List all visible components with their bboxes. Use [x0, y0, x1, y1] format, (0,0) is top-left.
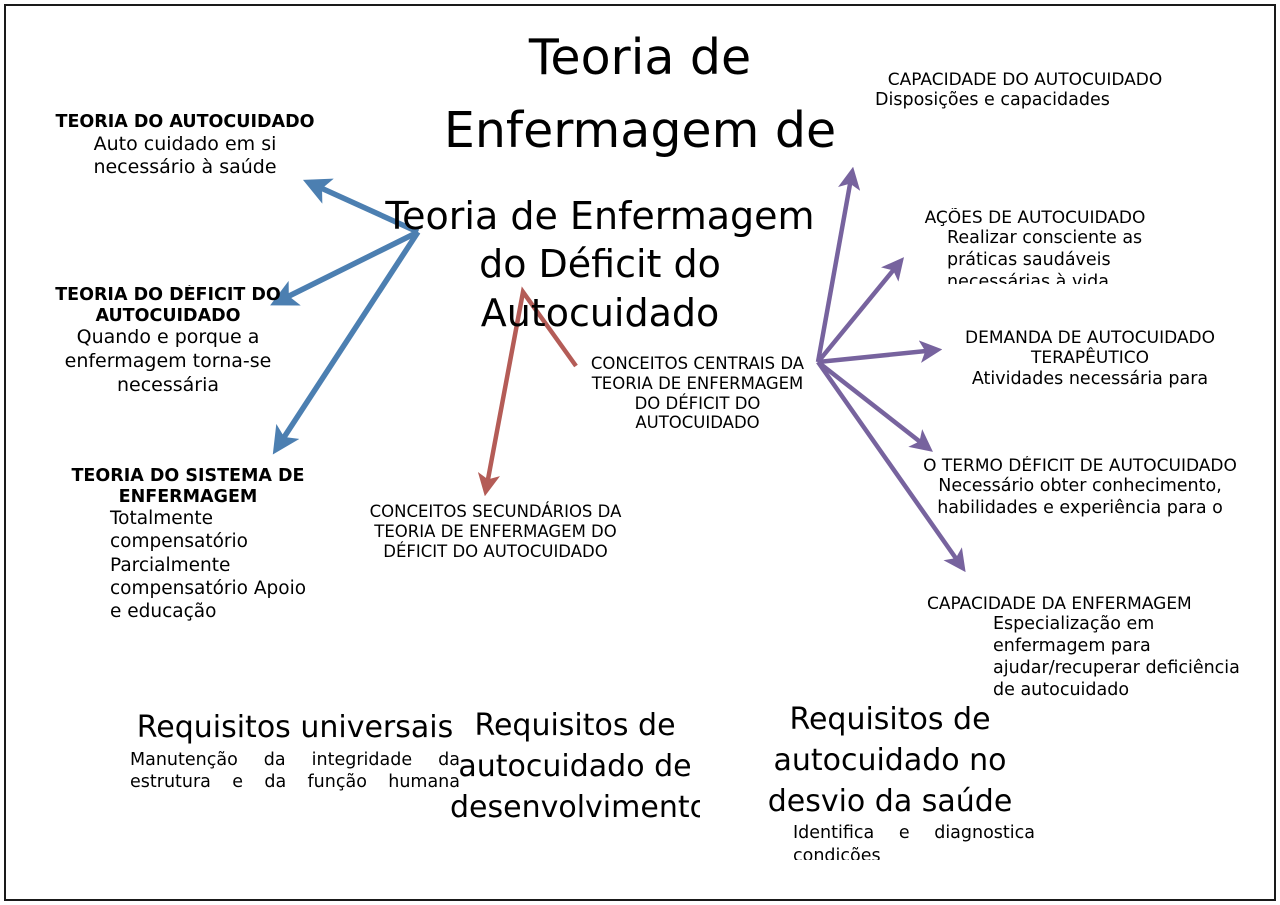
node-heading: CAPACIDADE DA ENFERMAGEM: [915, 594, 1265, 614]
node-body: Identifica e diagnostica condições: [745, 822, 1035, 860]
node-requisitos-universais[interactable]: Requisitos universais Manutenção da inte…: [130, 708, 460, 858]
node-teoria-do-sistema-de-enfermagem[interactable]: TEORIA DO SISTEMA DE ENFERMAGEM Totalmen…: [58, 466, 318, 636]
center-concept-label: Teoria de Enfermagem do Déficit do Autoc…: [380, 192, 820, 337]
page-title-line-2: Enfermagem de: [330, 95, 950, 168]
arrow-to-termo-deficit: [818, 362, 928, 448]
node-label: CONCEITOS CENTRAIS DA TEORIA DE ENFERMAG…: [585, 354, 810, 433]
node-body: Totalmente compensatório Parcialmente co…: [58, 507, 318, 623]
node-body: Necessário obter conhecimento, habilidad…: [895, 476, 1265, 520]
node-heading: TEORIA DO DÉFICIT DO AUTOCUIDADO: [18, 285, 318, 326]
node-body: Auto cuidado em si necessário à saúde: [40, 133, 330, 181]
node-teoria-do-autocuidado[interactable]: TEORIA DO AUTOCUIDADO Auto cuidado em si…: [40, 112, 330, 200]
node-acoes-de-autocuidado[interactable]: AÇÕES DE AUTOCUIDADO Realizar consciente…: [885, 208, 1185, 284]
node-body: Realizar consciente as práticas saudávei…: [885, 228, 1185, 284]
node-heading: TEORIA DO SISTEMA DE ENFERMAGEM: [58, 466, 318, 507]
node-capacidade-da-enfermagem[interactable]: CAPACIDADE DA ENFERMAGEM Especialização …: [915, 594, 1265, 706]
node-heading: DEMANDA DE AUTOCUIDADO TERAPÊUTICO: [930, 328, 1250, 369]
node-label: CONCEITOS SECUNDÁRIOS DA TEORIA DE ENFER…: [368, 502, 623, 561]
node-body: Especialização em enfermagem para ajudar…: [915, 614, 1265, 702]
page-title: Teoria de Enfermagem de: [330, 22, 950, 172]
node-body: Quando e porque a enfermagem torna-se ne…: [18, 326, 318, 395]
node-heading: O TERMO DÉFICIT DE AUTOCUIDADO: [895, 456, 1265, 476]
node-body: Disposições e capacidades: [875, 90, 1175, 112]
node-conceitos-centrais[interactable]: CONCEITOS CENTRAIS DA TEORIA DE ENFERMAG…: [585, 354, 810, 433]
node-requisitos-desenvolvimento[interactable]: Requisitos de autocuidado de desenvolvim…: [450, 706, 700, 861]
node-demanda-de-autocuidado-terapeutico[interactable]: DEMANDA DE AUTOCUIDADO TERAPÊUTICO Ativi…: [930, 328, 1250, 408]
node-heading: CAPACIDADE DO AUTOCUIDADO: [875, 70, 1175, 90]
page-title-line-1: Teoria de: [330, 22, 950, 95]
node-body: Manutenção da integridade da estrutura e…: [130, 749, 460, 794]
node-title: Requisitos de autocuidado de desenvolvim…: [450, 706, 700, 828]
node-heading: AÇÕES DE AUTOCUIDADO: [885, 208, 1185, 228]
arrow-to-capacidade-autocuidado: [818, 173, 852, 362]
node-capacidade-do-autocuidado[interactable]: CAPACIDADE DO AUTOCUIDADO Disposições e …: [875, 70, 1175, 170]
arrow-to-demanda-terapeutica: [818, 350, 936, 362]
diagram-canvas: Teoria de Enfermagem de Teoria de Enferm…: [0, 0, 1280, 905]
node-requisitos-desvio-saude[interactable]: Requisitos de autocuidado no desvio da s…: [745, 700, 1035, 860]
node-title: Requisitos universais: [130, 708, 460, 749]
node-heading: TEORIA DO AUTOCUIDADO: [40, 112, 330, 133]
node-o-termo-deficit-de-autocuidado[interactable]: O TERMO DÉFICIT DE AUTOCUIDADO Necessári…: [895, 456, 1265, 534]
node-teoria-do-deficit-do-autocuidado[interactable]: TEORIA DO DÉFICIT DO AUTOCUIDADO Quando …: [18, 285, 318, 395]
node-body: Atividades necessária para: [930, 369, 1250, 391]
node-title: Requisitos de autocuidado no desvio da s…: [745, 700, 1035, 822]
node-conceitos-secundarios[interactable]: CONCEITOS SECUNDÁRIOS DA TEORIA DE ENFER…: [368, 502, 623, 561]
